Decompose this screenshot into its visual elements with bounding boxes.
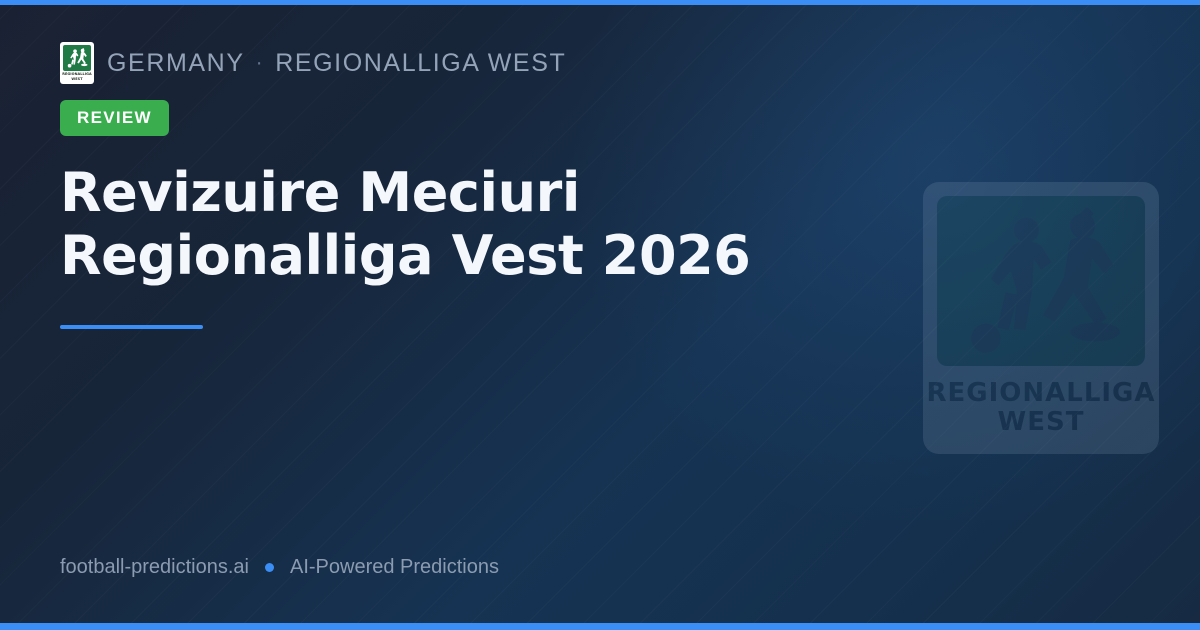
league-logo-crest-icon [63, 45, 91, 71]
status-badge: REVIEW [60, 100, 169, 136]
watermark-text-line2: WEST [998, 408, 1085, 437]
footer-tagline: AI-Powered Predictions [290, 556, 499, 579]
page-title: Revizuire Meciuri Regionalliga Vest 2026 [60, 162, 960, 287]
breadcrumb: REGIONALLIGA WEST GERMANY · REGIONALLIGA… [60, 40, 960, 86]
bottom-accent-bar [0, 623, 1200, 630]
top-accent-bar [0, 0, 1200, 5]
breadcrumb-text: GERMANY · REGIONALLIGA WEST [107, 49, 566, 78]
og-card: REGIONALLIGA WEST [0, 0, 1200, 630]
league-logo-caption-line2: WEST [71, 77, 82, 81]
watermark-text-line1: REGIONALLIGA [926, 379, 1155, 408]
breadcrumb-league: REGIONALLIGA WEST [275, 49, 566, 78]
footer-site-name: football-predictions.ai [60, 556, 249, 579]
breadcrumb-country: GERMANY [107, 49, 245, 78]
league-logo-icon: REGIONALLIGA WEST [60, 42, 94, 84]
watermark-crest-icon [937, 196, 1145, 366]
footer-bullet-icon [265, 563, 274, 572]
hero-content: REGIONALLIGA WEST GERMANY · REGIONALLIGA… [60, 40, 960, 329]
breadcrumb-separator: · [256, 51, 265, 75]
league-logo-caption-line1: REGIONALLIGA [62, 72, 92, 76]
footer: football-predictions.ai AI-Powered Predi… [60, 556, 499, 579]
accent-divider [60, 325, 203, 329]
